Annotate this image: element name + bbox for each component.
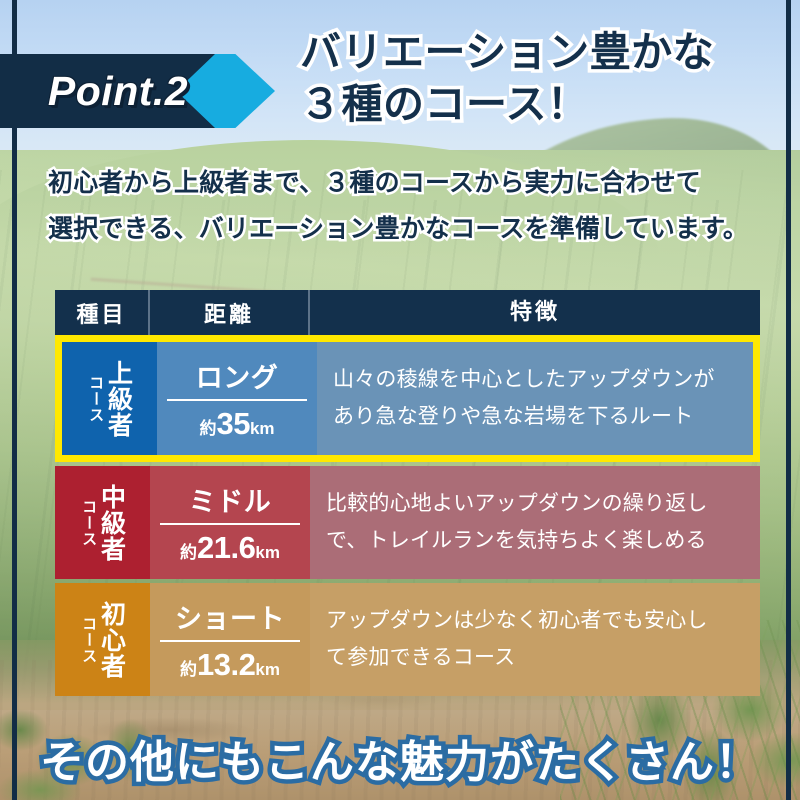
headline-line-2: ３種のコース！ <box>300 78 780 130</box>
row-distance-number: 13.2 <box>197 647 255 683</box>
header-feature: 特徴 <box>310 290 760 335</box>
row-distance-cell: ミドル 約 21.6 km <box>150 466 310 579</box>
row-distance-value: 約 21.6 km <box>180 525 280 566</box>
lead-line-1: 初心者から上級者まで、３種のコースから実力に合わせて <box>48 160 768 206</box>
badge-label: Point.2 <box>28 54 208 128</box>
row-distance-number: 35 <box>216 406 249 442</box>
lead-line-2: 選択できる、バリエーション豊かなコースを準備しています。 <box>48 206 768 252</box>
row-kind-cell: コース 中級者 <box>55 466 150 579</box>
row-course-name: ロング <box>167 356 307 401</box>
row-feature-cell: 山々の稜線を中心としたアップダウンが あり急な登りや急な岩場を下るルート <box>317 342 753 455</box>
row-distance-unit: km <box>255 543 280 563</box>
poster-root: Point.2 バリエーション豊かな ３種のコース！ 初心者から上級者まで、３種… <box>0 0 800 800</box>
row-feature-line-2: て参加できるコース <box>326 640 744 677</box>
row-feature-line-1: 山々の稜線を中心としたアップダウンが <box>333 362 737 399</box>
row-kind-cell: コース 上級者 <box>62 342 157 455</box>
row-feature-line-2: あり急な登りや急な岩場を下るルート <box>333 399 737 436</box>
header-kind: 種目 <box>55 290 150 335</box>
row-distance-unit: km <box>250 419 275 439</box>
course-table: 種目 距離 特徴 コース 上級者 ロング 約 35 km 山々の稜線を中心とした… <box>55 290 760 696</box>
table-row[interactable]: コース 中級者 ミドル 約 21.6 km 比較的心地よいアップダウンの繰り返し… <box>55 466 760 579</box>
row-kind-sub: コース <box>81 499 97 547</box>
table-header-row: 種目 距離 特徴 <box>55 290 760 335</box>
row-kind-cell: コース 初心者 <box>55 583 150 696</box>
row-feature-line-1: 比較的心地よいアップダウンの繰り返し <box>326 486 744 523</box>
header-distance: 距離 <box>150 290 310 335</box>
lead-paragraph: 初心者から上級者まで、３種のコースから実力に合わせて 選択できる、バリエーション… <box>48 160 768 253</box>
row-kind-main: 中級者 <box>98 484 124 562</box>
row-kind-main: 上級者 <box>105 360 131 438</box>
row-course-name: ミドル <box>160 480 300 525</box>
row-distance-cell: ロング 約 35 km <box>157 342 317 455</box>
row-kind-main: 初心者 <box>98 601 124 679</box>
row-kind-sub: コース <box>88 375 104 423</box>
table-row[interactable]: コース 上級者 ロング 約 35 km 山々の稜線を中心としたアップダウンが あ… <box>55 335 760 462</box>
row-approx-prefix: 約 <box>180 655 197 680</box>
point-badge: Point.2 <box>0 54 300 128</box>
row-feature-cell: 比較的心地よいアップダウンの繰り返し で、トレイルランを気持ちよく楽しめる <box>310 466 760 579</box>
row-feature-line-1: アップダウンは少なく初心者でも安心し <box>326 603 744 640</box>
row-kind-sub: コース <box>81 616 97 664</box>
frame-rule-right <box>786 0 791 800</box>
row-feature-line-2: で、トレイルランを気持ちよく楽しめる <box>326 523 744 560</box>
row-feature-cell: アップダウンは少なく初心者でも安心し て参加できるコース <box>310 583 760 696</box>
row-distance-value: 約 13.2 km <box>180 642 280 683</box>
table-row[interactable]: コース 初心者 ショート 約 13.2 km アップダウンは少なく初心者でも安心… <box>55 583 760 696</box>
row-distance-unit: km <box>255 660 280 680</box>
row-approx-prefix: 約 <box>180 538 197 563</box>
page-title: バリエーション豊かな ３種のコース！ <box>300 26 780 131</box>
headline-line-1: バリエーション豊かな <box>300 26 780 78</box>
row-distance-value: 約 35 km <box>199 401 274 442</box>
row-course-name: ショート <box>160 597 300 642</box>
row-approx-prefix: 約 <box>199 414 216 439</box>
row-distance-cell: ショート 約 13.2 km <box>150 583 310 696</box>
bottom-banner-text: その他にもこんな魅力がたくさん！ <box>0 726 800 790</box>
row-distance-number: 21.6 <box>197 530 255 566</box>
